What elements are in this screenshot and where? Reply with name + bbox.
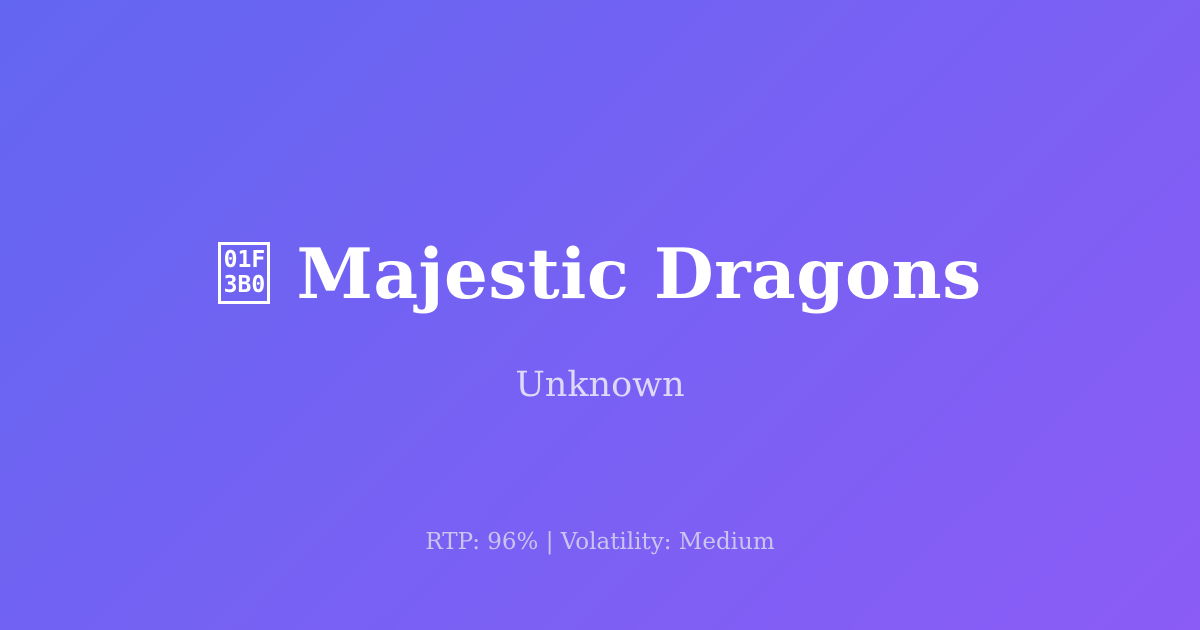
game-preview-card: 01F 3B0 Majestic Dragons Unknown RTP: 96… [0, 0, 1200, 630]
game-meta-line: RTP: 96% | Volatility: Medium [0, 527, 1200, 557]
title-row: 01F 3B0 Majestic Dragons [0, 232, 1200, 318]
page-title: Majestic Dragons [296, 232, 981, 318]
glyph-codepoint-lower: 3B0 [224, 273, 266, 298]
slot-machine-icon: 01F 3B0 [218, 242, 270, 304]
glyph-codepoint-upper: 01F [224, 248, 266, 273]
subtitle-provider: Unknown [0, 362, 1200, 408]
